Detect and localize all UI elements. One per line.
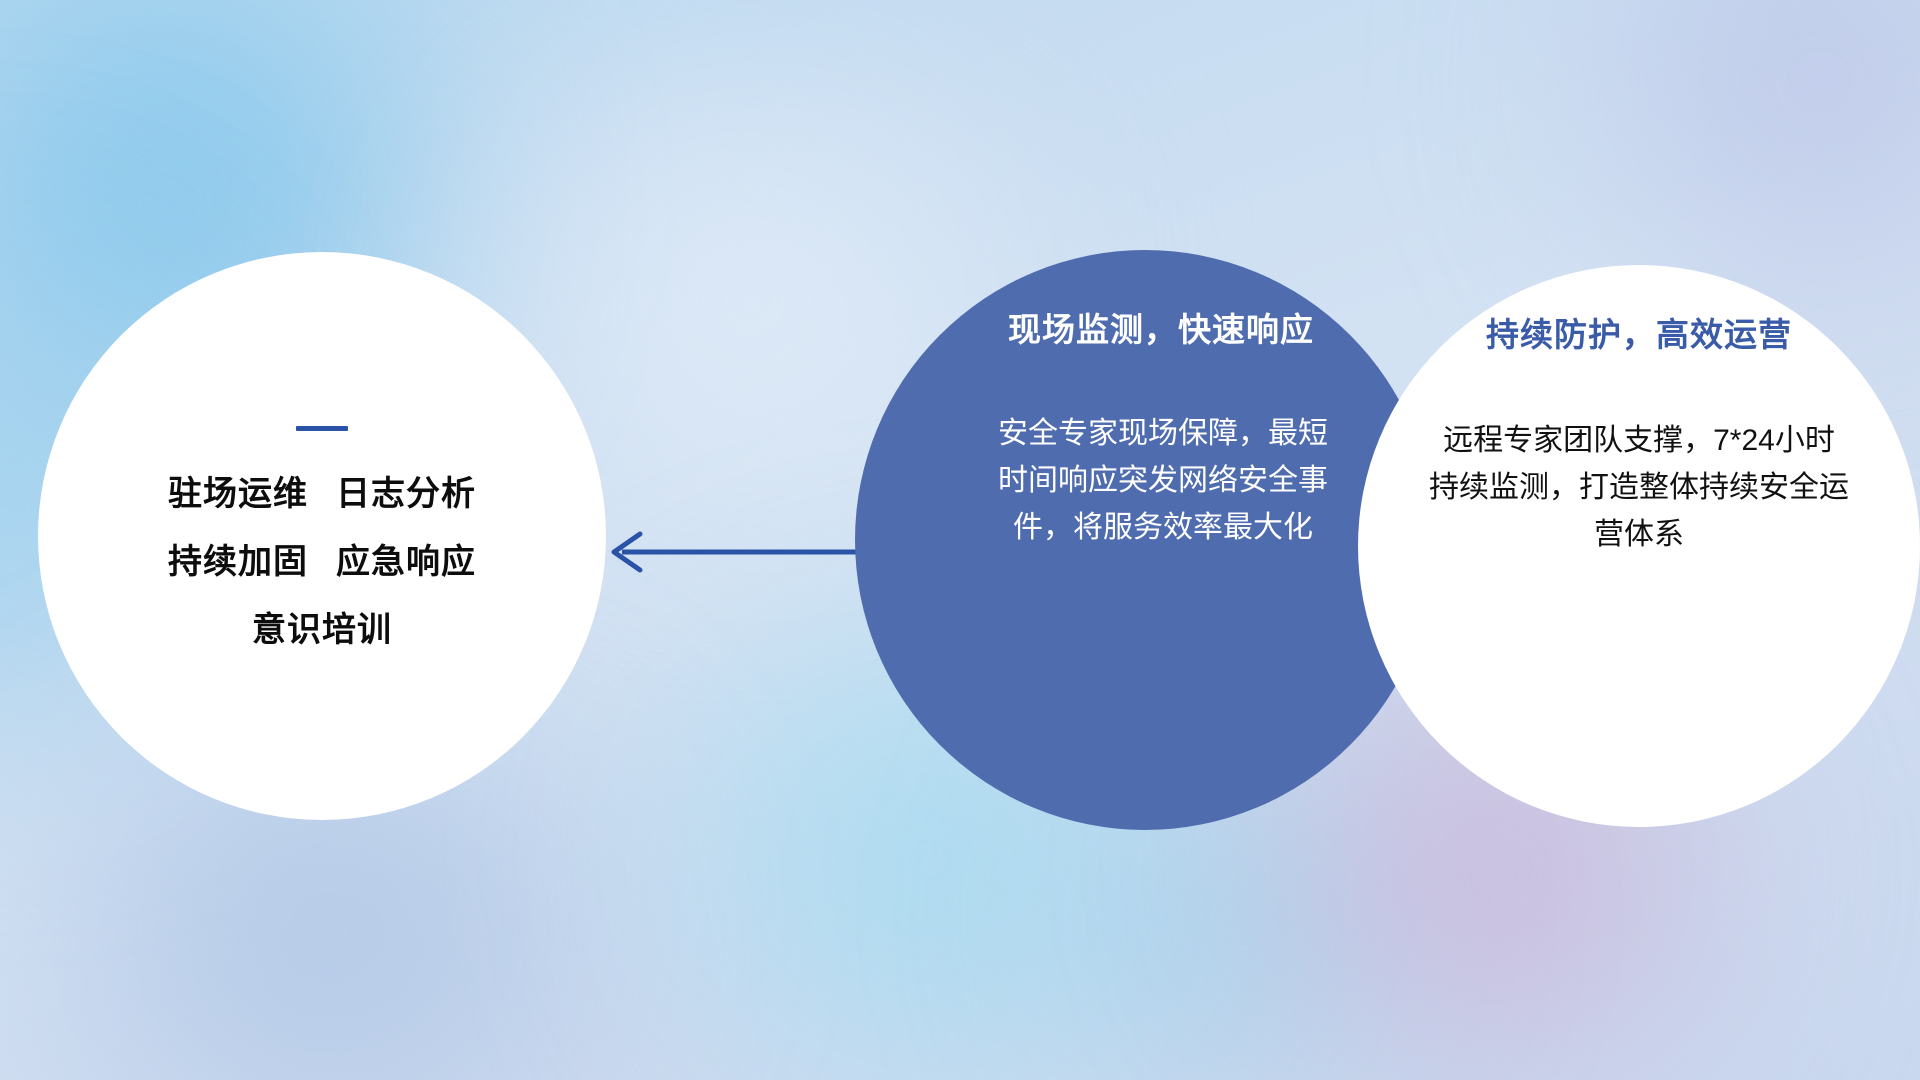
capability-row-1: 驻场运维日志分析 <box>168 477 476 511</box>
onsite-monitoring-content: 现场监测，快速响应 安全专家现场保障，最短时间响应突发网络安全事件，将服务效率最… <box>855 250 1435 830</box>
divider-dash-icon <box>296 426 348 431</box>
continuous-protection-title: 持续防护，高效运营 <box>1486 315 1792 355</box>
capability-label-chixujiagu: 持续加固 <box>168 543 308 581</box>
capability-label-yingjixiangying: 应急响应 <box>336 543 476 581</box>
capability-row-2: 持续加固应急响应 <box>168 545 476 579</box>
continuous-protection-body: 远程专家团队支撑，7*24小时持续监测，打造整体持续安全运营体系 <box>1429 417 1849 559</box>
capability-label-rizhifenxi: 日志分析 <box>336 475 476 513</box>
continuous-protection-content: 持续防护，高效运营 远程专家团队支撑，7*24小时持续监测，打造整体持续安全运营… <box>1358 265 1920 827</box>
flow-arrow-left <box>600 525 880 579</box>
onsite-monitoring-body: 安全专家现场保障，最短时间响应突发网络安全事件，将服务效率最大化 <box>998 410 1328 552</box>
onsite-monitoring-title: 现场监测，快速响应 <box>1008 310 1314 350</box>
capability-row-3: 意识培训 <box>252 613 392 647</box>
capability-label-zhuchangyunwei: 驻场运维 <box>168 475 308 513</box>
slide-canvas: 驻场运维日志分析 持续加固应急响应 意识培训 现场监测，快速响应 安全专家现场保… <box>0 0 1920 1080</box>
service-capability-content: 驻场运维日志分析 持续加固应急响应 意识培训 <box>38 252 606 820</box>
